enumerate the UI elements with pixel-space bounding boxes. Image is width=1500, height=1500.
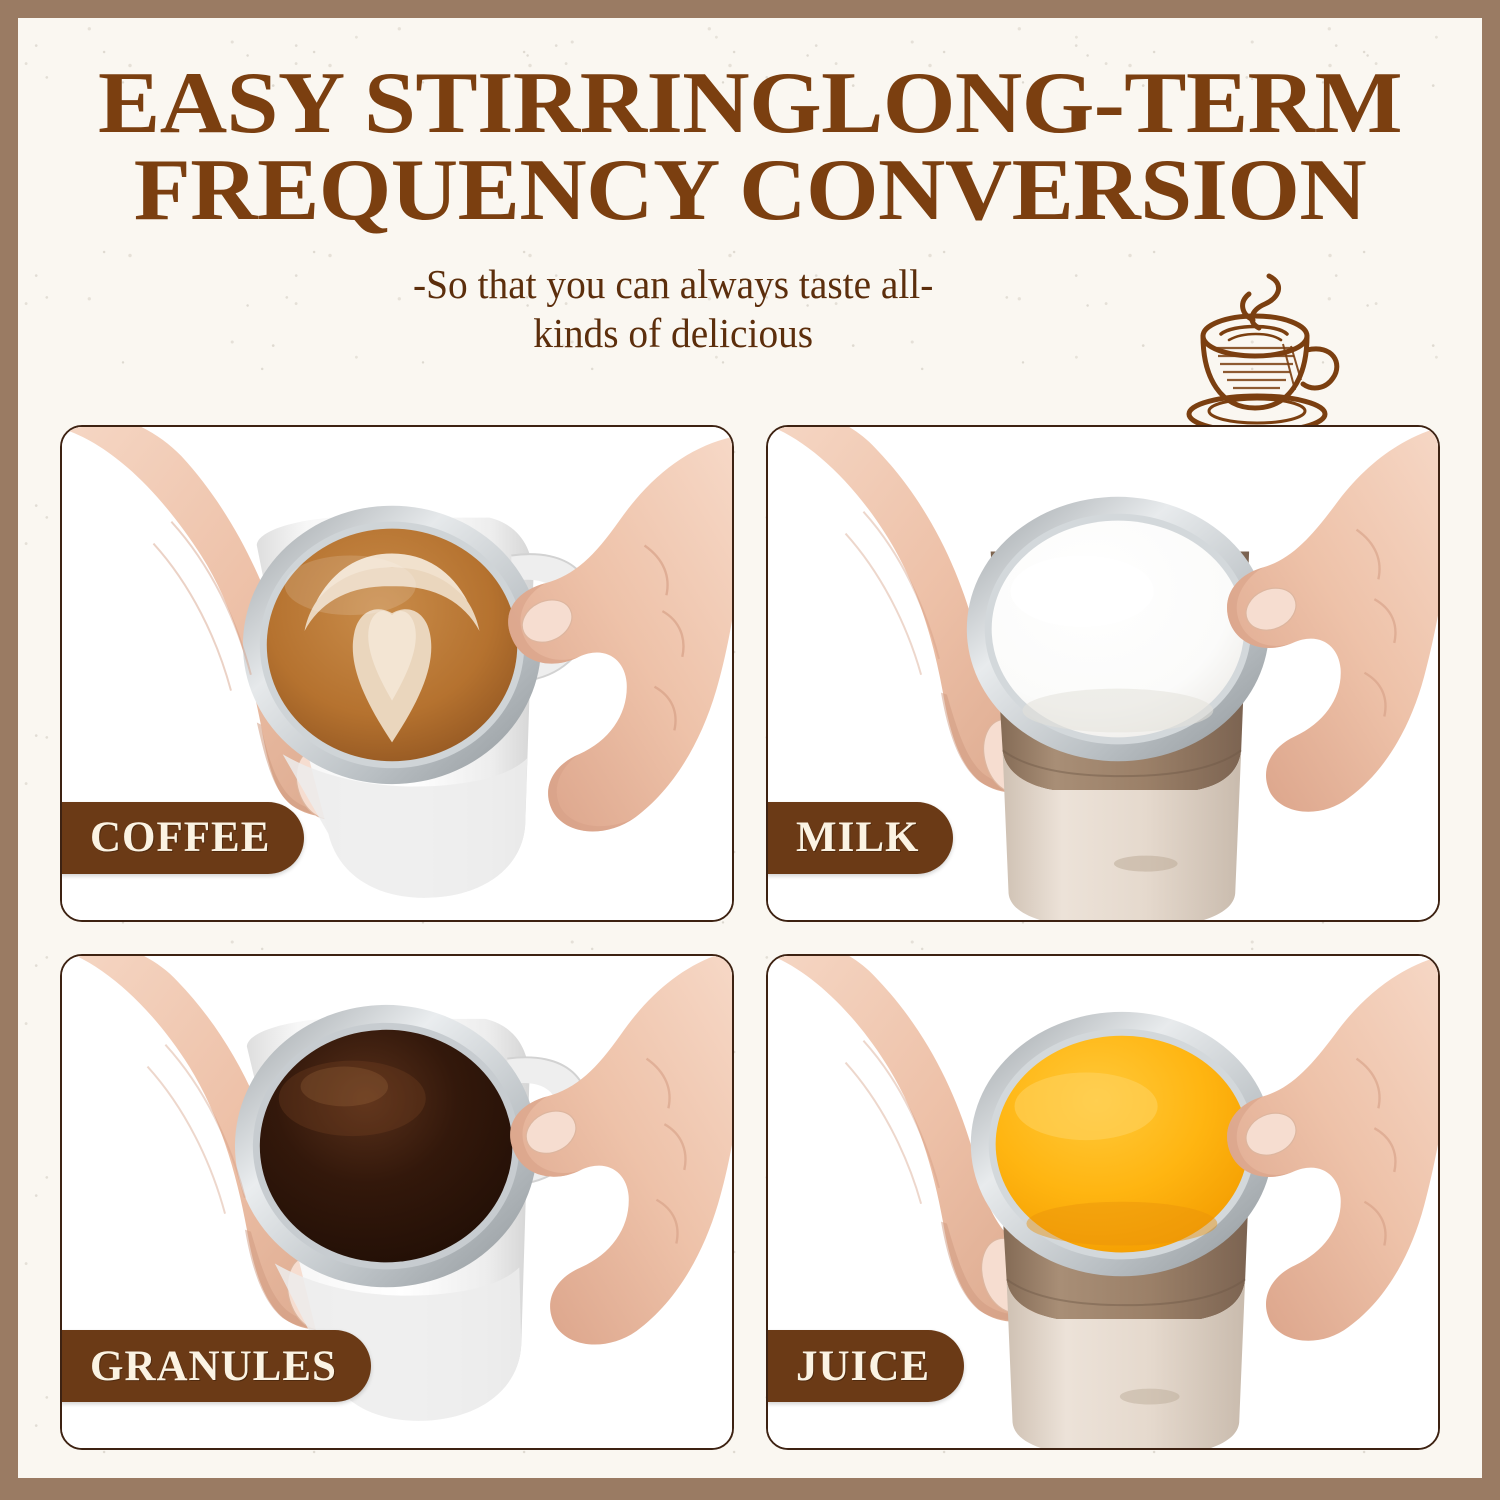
outer-frame: EASY STIRRINGLONG-TERM FREQUENCY CONVERS… xyxy=(0,0,1500,1500)
subtitle-line-2: kinds of delicious xyxy=(86,309,1261,357)
badge-label: MILK xyxy=(796,813,919,862)
badge-juice: JUICE xyxy=(766,1330,964,1402)
badge-label: COFFEE xyxy=(90,813,270,862)
panel-granules[interactable]: GRANULES xyxy=(60,954,734,1451)
badge-milk: MILK xyxy=(766,802,953,874)
page-title: EASY STIRRINGLONG-TERM FREQUENCY CONVERS… xyxy=(18,18,1482,234)
badge-coffee: COFFEE xyxy=(60,802,304,874)
title-line-2: FREQUENCY CONVERSION xyxy=(18,147,1482,234)
product-usage-grid: COFFEE xyxy=(60,425,1440,1450)
panel-milk[interactable]: MILK xyxy=(766,425,1440,922)
panel-coffee[interactable]: COFFEE xyxy=(60,425,734,922)
panel-juice[interactable]: JUICE xyxy=(766,954,1440,1451)
badge-granules: GRANULES xyxy=(60,1330,371,1402)
badge-label: JUICE xyxy=(796,1342,930,1391)
subtitle-line-1: -So that you can always taste all- xyxy=(86,260,1261,308)
coffee-cup-saucer-steam-icon xyxy=(1173,268,1363,443)
badge-label: GRANULES xyxy=(90,1342,337,1391)
title-line-1: EASY STIRRINGLONG-TERM xyxy=(18,60,1482,147)
poster-canvas: EASY STIRRINGLONG-TERM FREQUENCY CONVERS… xyxy=(18,18,1482,1478)
